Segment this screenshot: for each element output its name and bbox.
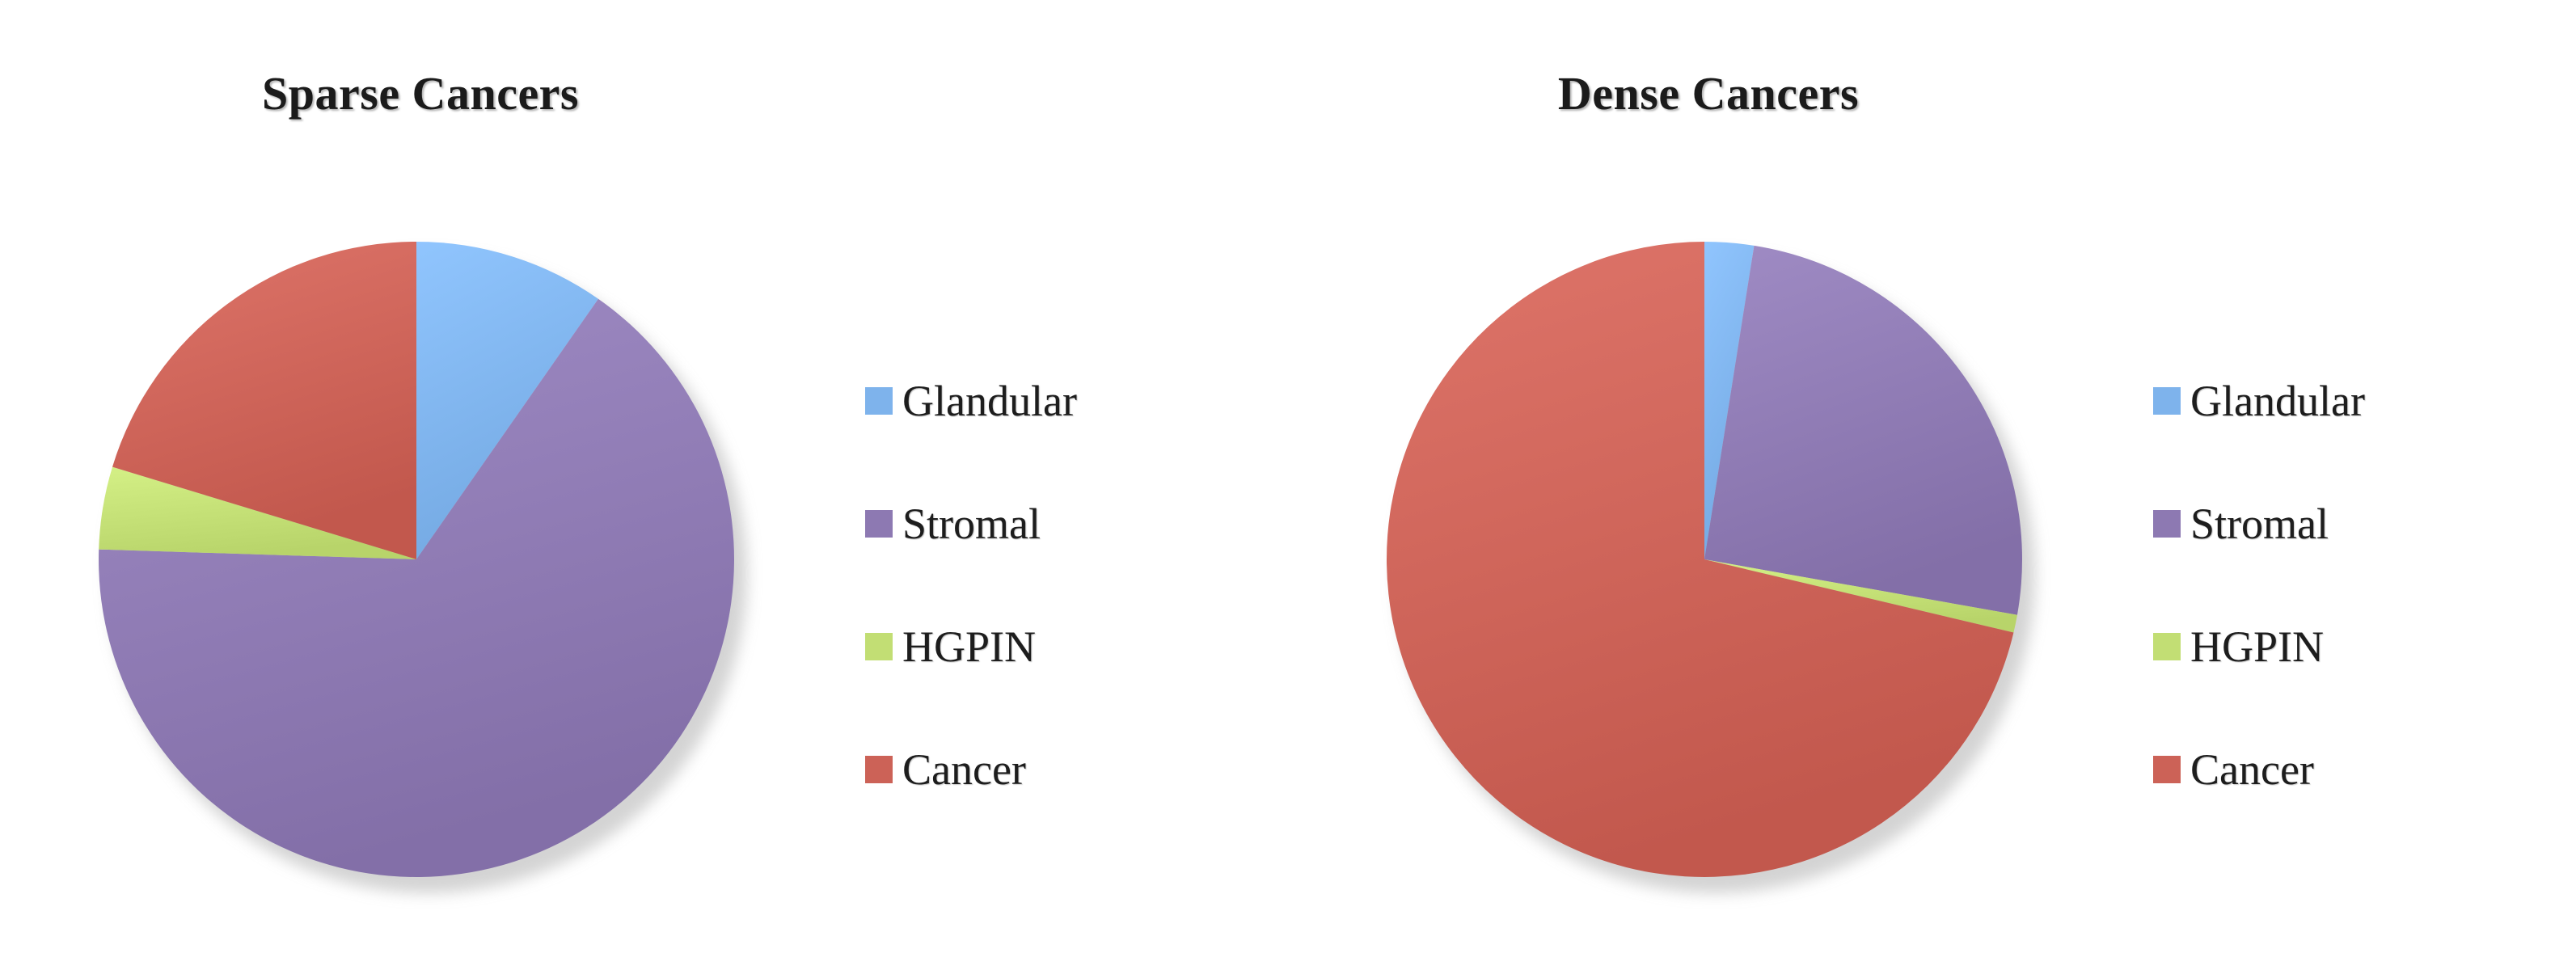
legend-sparse: Glandular Stromal HGPIN Cancer	[865, 339, 1253, 831]
legend-swatch-cancer	[865, 756, 893, 783]
legend-label-cancer: Cancer	[902, 748, 1026, 791]
legend-item-cancer-dense[interactable]: Cancer	[2153, 708, 2541, 831]
legend-item-cancer[interactable]: Cancer	[865, 708, 1253, 831]
legend-label-hgpin: HGPIN	[902, 625, 1036, 668]
legend-item-stromal-dense[interactable]: Stromal	[2153, 462, 2541, 585]
legend-item-glandular-dense[interactable]: Glandular	[2153, 339, 2541, 462]
legend-item-hgpin-dense[interactable]: HGPIN	[2153, 585, 2541, 708]
pie-chart-dense	[1385, 240, 2032, 887]
legend-label-glandular-dense: Glandular	[2190, 379, 2365, 423]
legend-swatch-stromal-dense	[2153, 510, 2181, 538]
legend-swatch-hgpin	[865, 633, 893, 660]
pie-chart-sparse	[97, 240, 744, 887]
legend-label-stromal: Stromal	[902, 502, 1041, 546]
panel-sparse-cancers: Sparse Cancers Glandular Stromal HGPIN	[0, 0, 1288, 970]
page-title-dense: Dense Cancers	[1288, 66, 2129, 120]
pie-svg-sparse	[97, 240, 736, 879]
legend-dense: Glandular Stromal HGPIN Cancer	[2153, 339, 2541, 831]
legend-item-stromal[interactable]: Stromal	[865, 462, 1253, 585]
pie-slices-sparse	[97, 240, 736, 879]
legend-label-cancer-dense: Cancer	[2190, 748, 2314, 791]
legend-label-glandular: Glandular	[902, 379, 1077, 423]
legend-label-stromal-dense: Stromal	[2190, 502, 2329, 546]
panel-dense-cancers: Dense Cancers Glandular Stromal HGPIN	[1288, 0, 2576, 970]
legend-swatch-glandular-dense	[2153, 387, 2181, 415]
legend-swatch-cancer-dense	[2153, 756, 2181, 783]
pie-chart-figure: Sparse Cancers Glandular Stromal HGPIN	[0, 0, 2576, 970]
legend-item-hgpin[interactable]: HGPIN	[865, 585, 1253, 708]
legend-label-hgpin-dense: HGPIN	[2190, 625, 2324, 668]
pie-slice-stromal[interactable]	[1704, 246, 2022, 615]
legend-swatch-stromal	[865, 510, 893, 538]
page-title: Sparse Cancers	[0, 66, 841, 120]
legend-item-glandular[interactable]: Glandular	[865, 339, 1253, 462]
legend-swatch-hgpin-dense	[2153, 633, 2181, 660]
pie-svg-dense	[1385, 240, 2024, 879]
pie-slices-dense	[1385, 240, 2024, 879]
legend-swatch-glandular	[865, 387, 893, 415]
